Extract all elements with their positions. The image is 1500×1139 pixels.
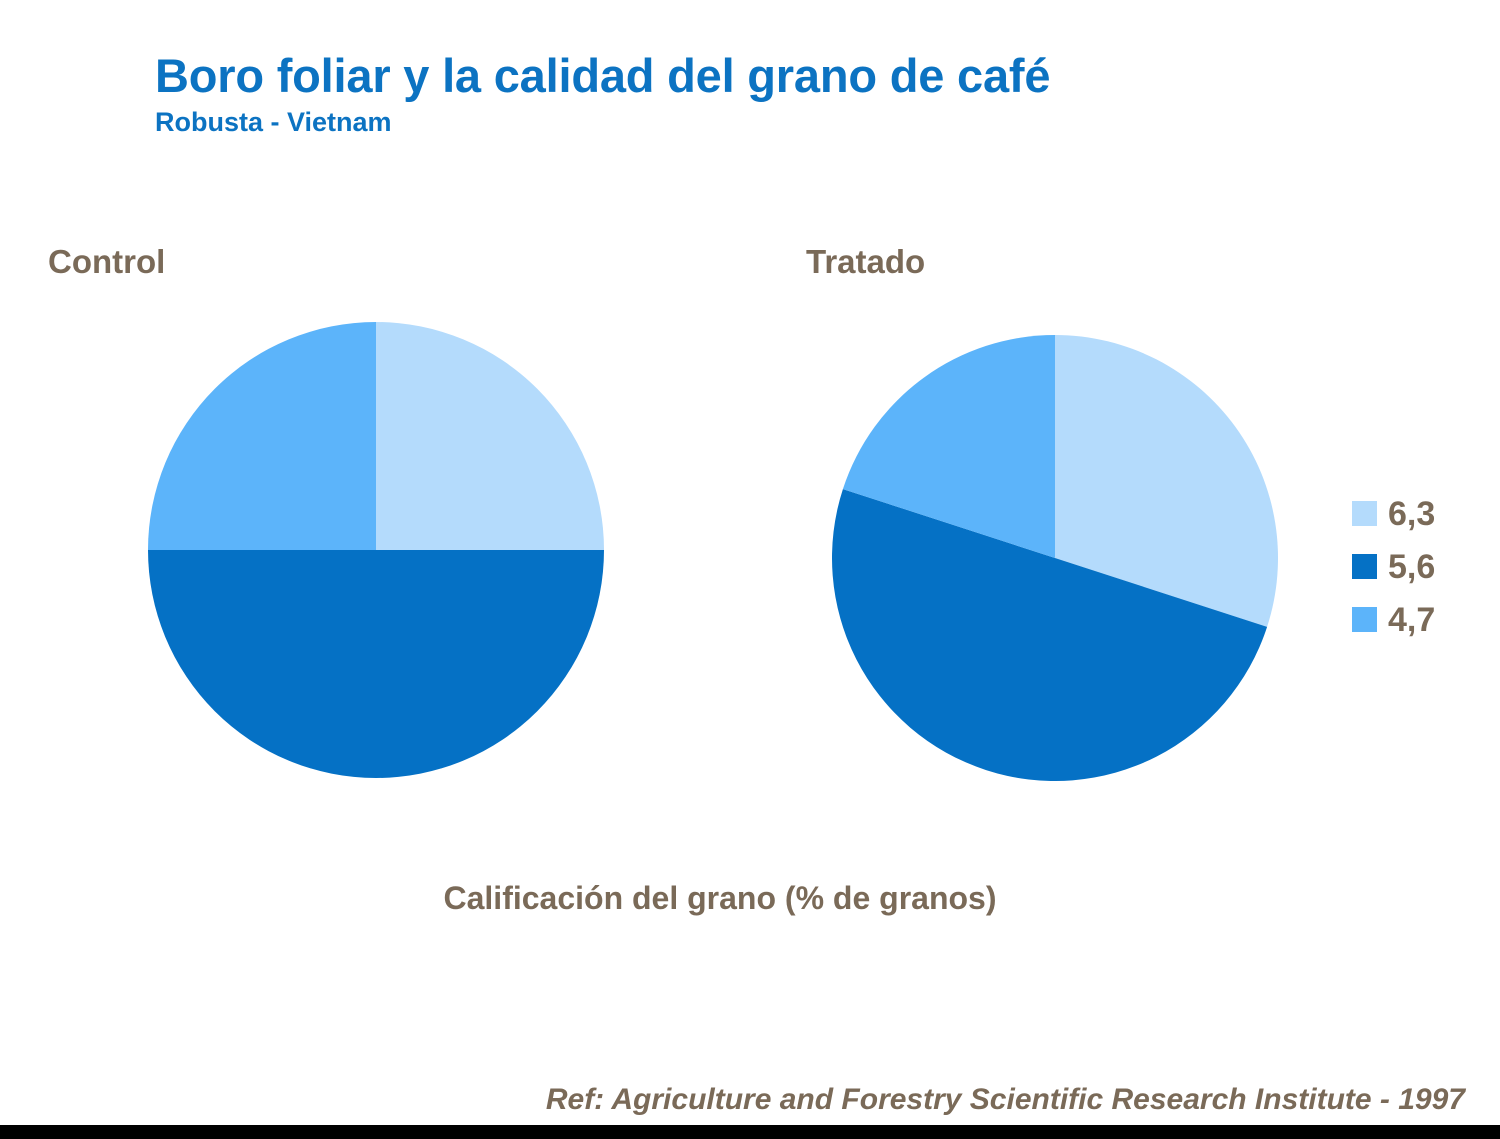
slide-canvas: Boro foliar y la calidad del grano de ca…: [0, 0, 1500, 1139]
legend-label-4_7: 4,7: [1388, 603, 1435, 637]
legend-item-4_7[interactable]: 4,7: [1352, 593, 1435, 646]
pie-control-svg: [148, 322, 604, 778]
legend-swatch-icon-6_3: [1352, 501, 1377, 526]
page-subtitle: Robusta - Vietnam: [155, 109, 1255, 136]
footer-reference: Ref: Agriculture and Forestry Scientific…: [546, 1083, 1465, 1117]
panel-label-control: Control: [48, 243, 165, 281]
legend-label-5_6: 5,6: [1388, 550, 1435, 584]
legend-item-5_6[interactable]: 5,6: [1352, 540, 1435, 593]
pie-tratado-svg: [832, 335, 1278, 781]
axis-caption: Calificación del grano (% de granos): [0, 880, 1440, 917]
legend-item-6_3[interactable]: 6,3: [1352, 487, 1435, 540]
pie-chart-tratado: [832, 335, 1278, 781]
title-block: Boro foliar y la calidad del grano de ca…: [155, 52, 1255, 136]
pie-slice-control-5_6[interactable]: [148, 550, 604, 778]
page-title: Boro foliar y la calidad del grano de ca…: [155, 52, 1255, 99]
pie-chart-control: [148, 322, 604, 778]
legend-swatch-icon-4_7: [1352, 607, 1377, 632]
pie-control-slices: [148, 322, 604, 778]
legend: 6,3 5,6 4,7: [1352, 487, 1435, 646]
legend-swatch-icon-5_6: [1352, 554, 1377, 579]
pie-tratado-slices: [832, 335, 1278, 781]
legend-label-6_3: 6,3: [1388, 497, 1435, 531]
pie-slice-control-4_7[interactable]: [148, 322, 376, 550]
panel-label-tratado: Tratado: [806, 243, 925, 281]
bottom-bar: [0, 1125, 1500, 1139]
pie-slice-control-6_3[interactable]: [376, 322, 604, 550]
